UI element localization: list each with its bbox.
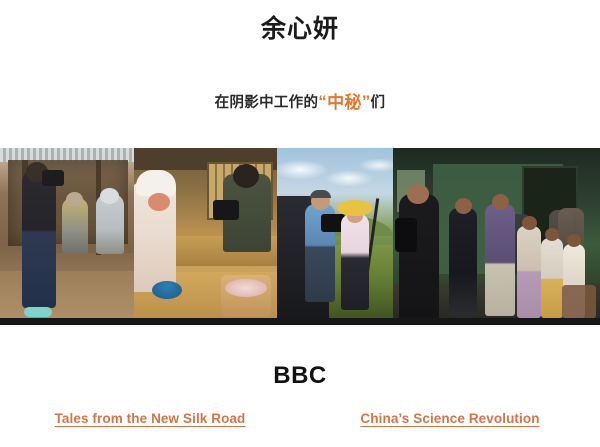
photo-panel-4 xyxy=(393,148,600,323)
subtitle-close-quote: ” xyxy=(362,92,371,111)
subtitle-prefix-text: 在阴影中工作的 xyxy=(215,95,319,111)
chef-face-shape xyxy=(148,193,170,211)
dirt-ground-shape xyxy=(0,271,134,323)
subtitle-open-quote: “ xyxy=(318,92,327,111)
credit-links: Tales from the New Silk Road China’s Sci… xyxy=(0,410,600,428)
photo-panel-1 xyxy=(0,148,134,323)
child-2-head-shape xyxy=(492,194,509,210)
steamer-contents-shape xyxy=(225,279,267,297)
chef-headscarf-shape xyxy=(136,170,176,196)
child-4-shape xyxy=(541,238,563,318)
brand-label: BBC xyxy=(0,362,600,390)
child-3-head-shape xyxy=(522,216,537,230)
yellow-sun-hat-shape xyxy=(337,200,373,216)
photo-panel-2 xyxy=(134,148,277,323)
child-1-head-shape xyxy=(455,198,472,214)
camera-operator-head-shape xyxy=(233,164,259,188)
seated-person-b-head-shape xyxy=(100,188,119,204)
photo-strip-bottom-band xyxy=(0,318,600,325)
camera-rig-shape xyxy=(213,200,239,220)
camera-operator-head-shape xyxy=(407,184,429,204)
photo-strip xyxy=(0,148,600,323)
camera-gear-bag-shape xyxy=(395,218,417,252)
seated-person-a-head-shape xyxy=(66,192,83,207)
photo-panel-3 xyxy=(277,148,393,323)
child-4-head-shape xyxy=(545,228,559,241)
camera-operator-body-shape xyxy=(22,168,56,308)
subtitle-suffix-text: 们 xyxy=(371,95,386,111)
child-5-head-shape xyxy=(567,234,581,247)
camera-rig-shape xyxy=(42,170,64,186)
camera-operator-body-shape xyxy=(399,194,439,320)
credit-link-tales-from-the-new-silk-road[interactable]: Tales from the New Silk Road xyxy=(55,411,246,426)
credit-link-chinas-science-revolution[interactable]: China’s Science Revolution xyxy=(360,411,539,426)
page-title: 余心妍 xyxy=(0,14,600,44)
crew-man-cap-shape xyxy=(310,190,331,198)
credit-link-cell-right: China’s Science Revolution xyxy=(300,410,600,428)
wooden-bench-shape xyxy=(562,285,596,319)
child-2-shape xyxy=(485,204,515,316)
subtitle-highlight-text: 中秘 xyxy=(327,93,362,112)
child-1-shape xyxy=(449,208,477,316)
page-subtitle: 在阴影中工作的“中秘”们 xyxy=(0,88,600,113)
crew-woman-body-shape xyxy=(341,214,369,310)
sky-clouds-shape xyxy=(277,152,393,196)
child-3-shape xyxy=(517,226,541,318)
operator-shoe-shape xyxy=(24,307,52,317)
blue-bowl-shape xyxy=(152,281,182,299)
credit-link-cell-left: Tales from the New Silk Road xyxy=(0,410,300,428)
